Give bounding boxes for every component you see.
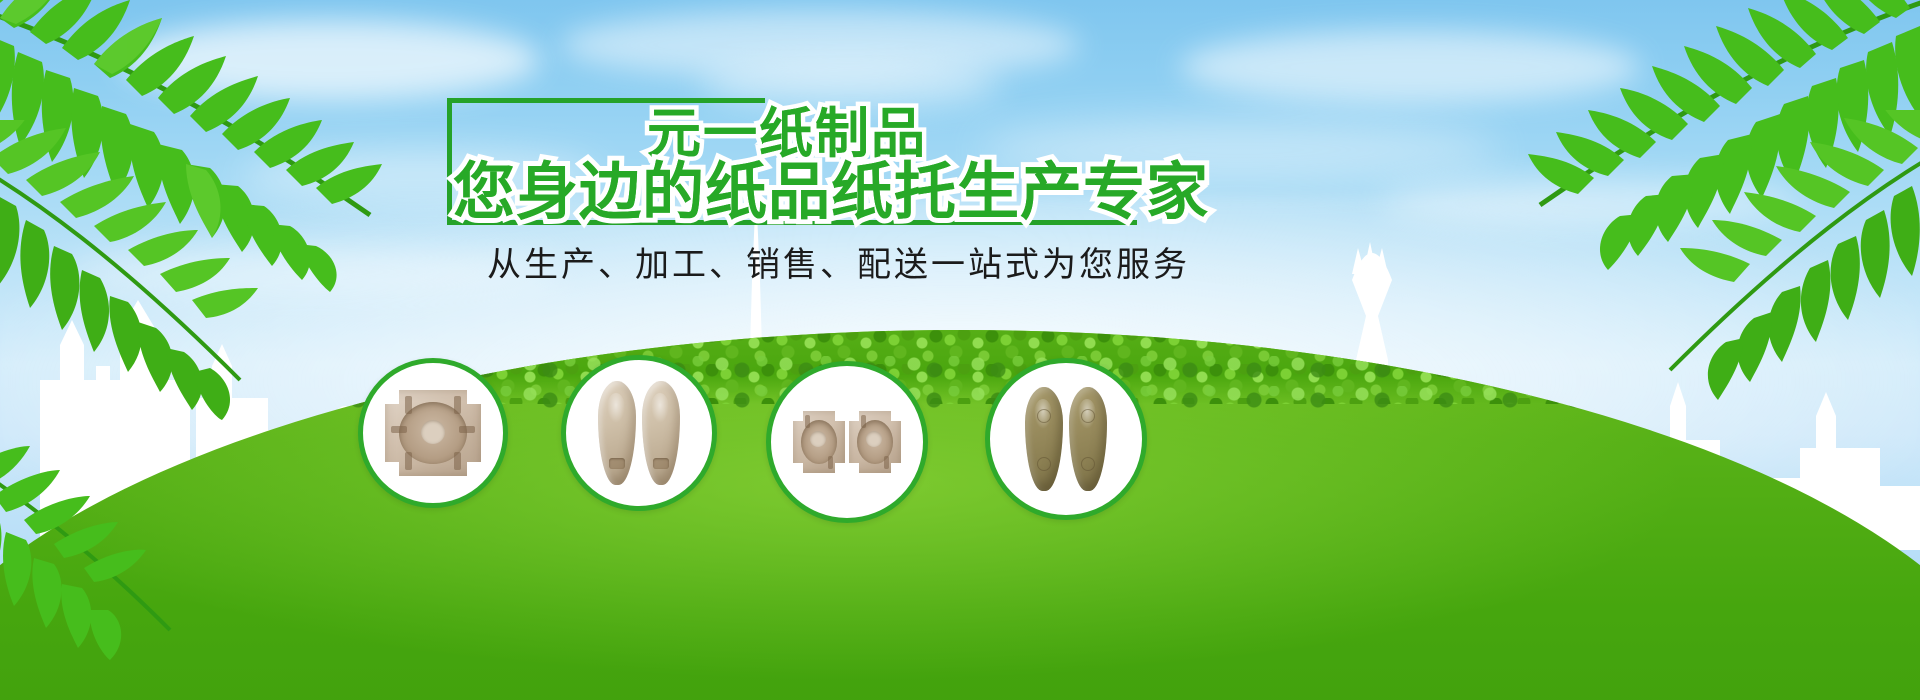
product-circle-molded-pulp-tray-double[interactable] bbox=[766, 361, 928, 523]
promo-banner: 元一纸制品 元一纸制品 您身边的纸品纸托生产专家 您身边的纸品纸托生产专家 从生… bbox=[0, 0, 1920, 700]
molded-pulp-tray-double-image bbox=[793, 411, 901, 473]
headline-block: 元一纸制品 元一纸制品 您身边的纸品纸托生产专家 您身边的纸品纸托生产专家 bbox=[447, 93, 1137, 225]
paper-shoe-form-pair-light-image bbox=[598, 381, 680, 485]
green-hill bbox=[0, 300, 1920, 700]
subtitle-text: 从生产、加工、销售、配送一站式为您服务 bbox=[487, 237, 1190, 286]
cloud-shape bbox=[1180, 30, 1640, 104]
cloud-shape bbox=[120, 20, 540, 100]
product-circle-molded-pulp-tray[interactable] bbox=[358, 358, 508, 508]
headline-title: 您身边的纸品纸托生产专家 bbox=[453, 141, 1209, 231]
frame-border-left bbox=[447, 98, 452, 225]
molded-pulp-tray-image bbox=[385, 390, 481, 476]
paper-shoe-form-pair-dark-image bbox=[1025, 387, 1107, 491]
product-circle-paper-shoe-form-pair-light[interactable] bbox=[561, 355, 717, 511]
product-circle-paper-shoe-form-pair-dark[interactable] bbox=[985, 358, 1147, 520]
